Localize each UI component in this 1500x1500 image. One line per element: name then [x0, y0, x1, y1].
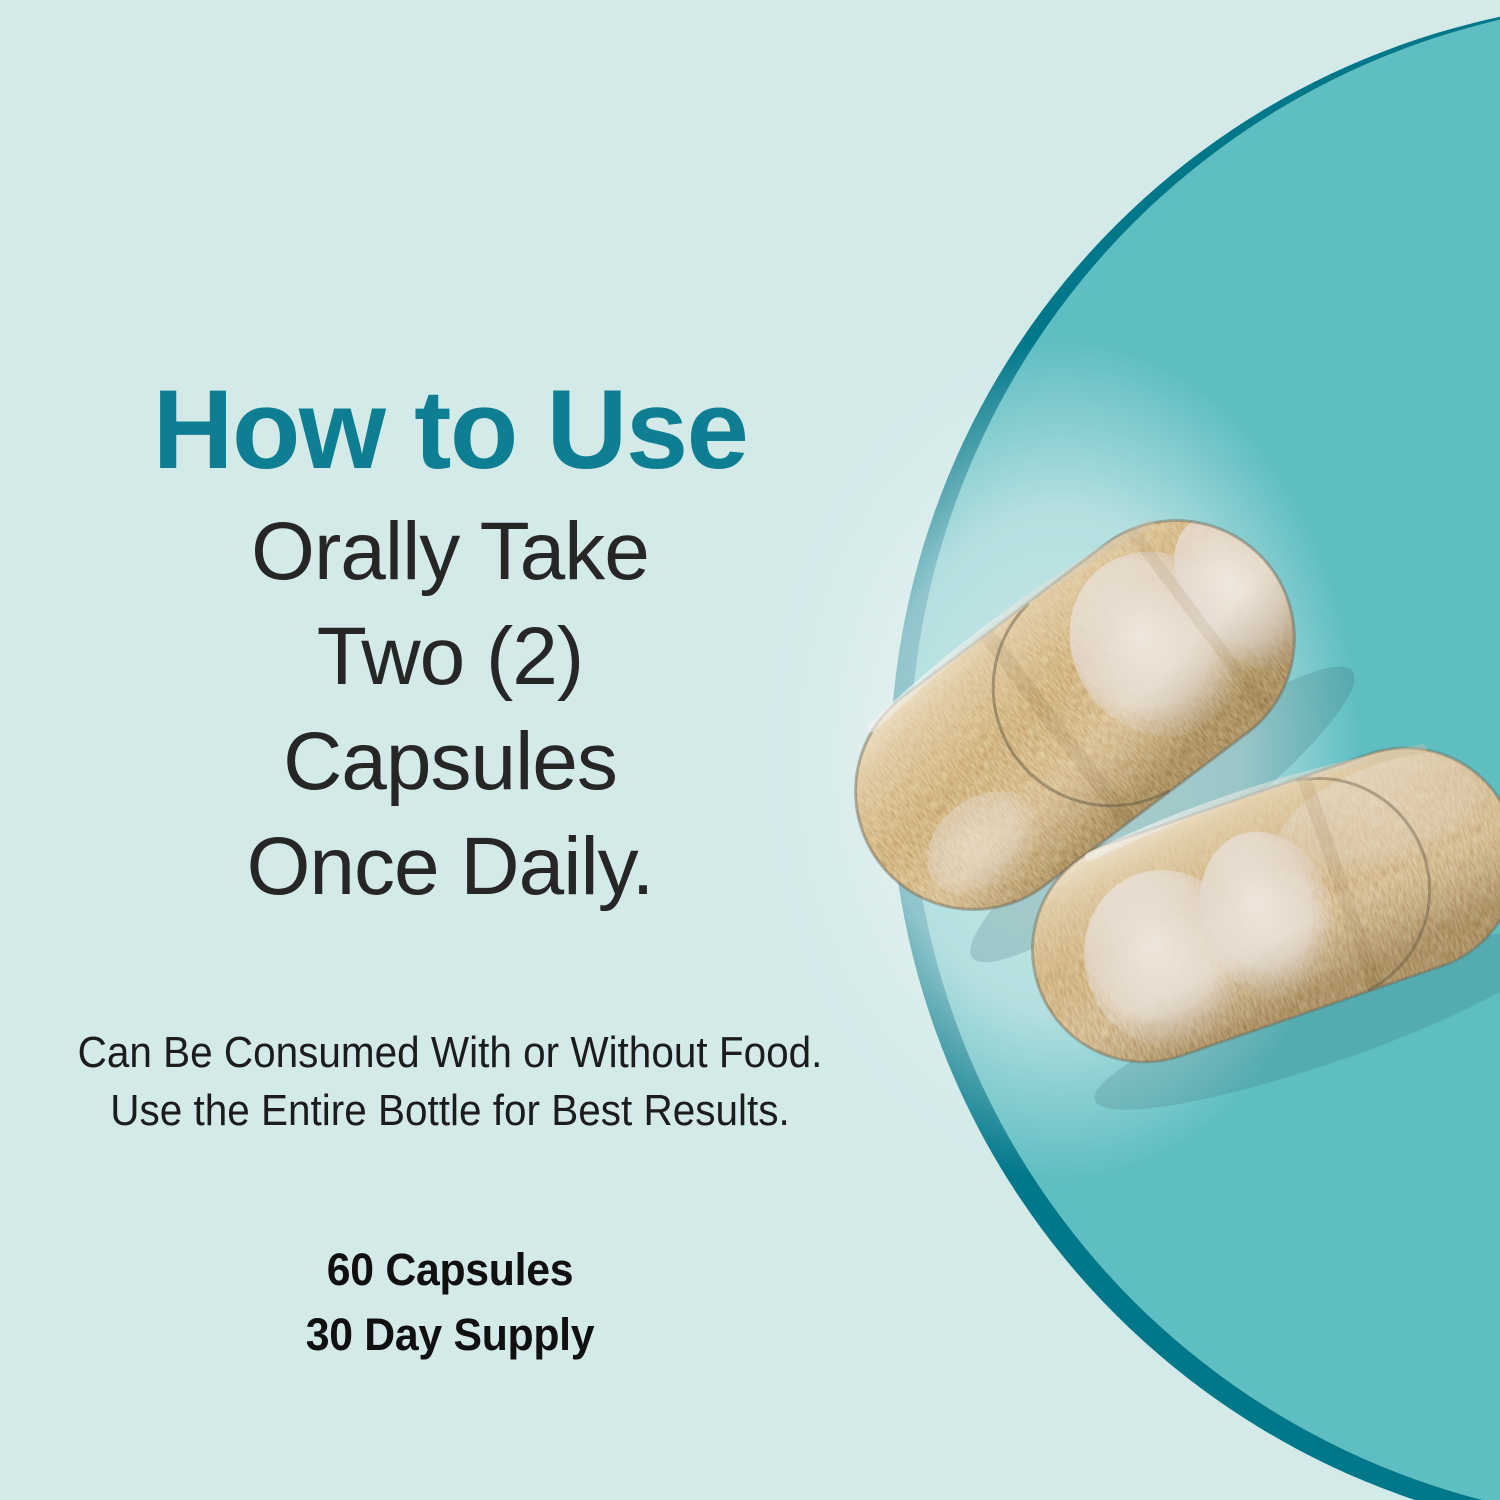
page-title: How to Use: [0, 371, 900, 489]
dosage-instruction: Orally Take Two (2) Capsules Once Daily.: [0, 500, 900, 920]
usage-note-line-2: Use the Entire Bottle for Best Results.: [36, 1082, 864, 1140]
text-column: How to Use Orally Take Two (2) Capsules …: [0, 0, 900, 1500]
usage-note: Can Be Consumed With or Without Food. Us…: [36, 1024, 864, 1140]
dosage-line-4: Once Daily.: [0, 815, 900, 920]
capsule-count: 60 Capsules: [23, 1238, 878, 1303]
product-infographic: How to Use Orally Take Two (2) Capsules …: [0, 0, 1500, 1500]
supply-info: 60 Capsules 30 Day Supply: [23, 1238, 878, 1368]
dosage-line-3: Capsules: [0, 710, 900, 815]
dosage-line-1: Orally Take: [0, 500, 900, 605]
day-supply: 30 Day Supply: [23, 1303, 878, 1368]
dosage-line-2: Two (2): [0, 605, 900, 710]
usage-note-line-1: Can Be Consumed With or Without Food.: [36, 1024, 864, 1082]
